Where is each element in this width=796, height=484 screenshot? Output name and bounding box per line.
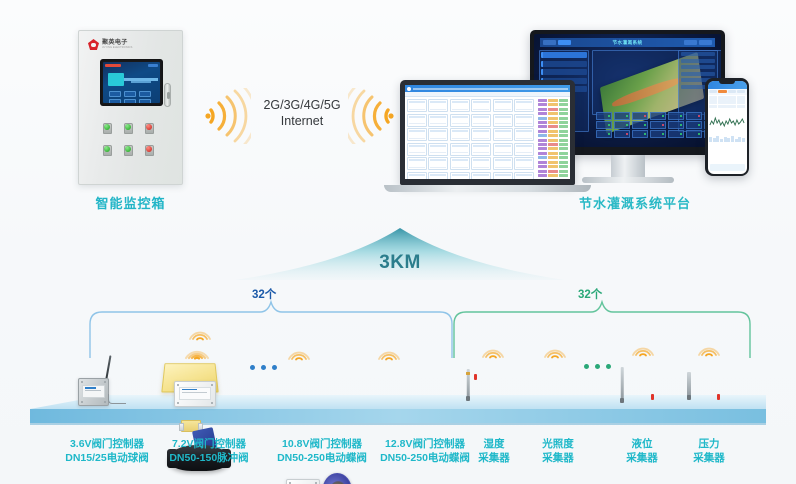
side-row [538, 121, 568, 124]
device-card[interactable] [514, 99, 534, 112]
table-cell [737, 100, 745, 104]
device-card[interactable] [514, 157, 534, 170]
monitor-stand [611, 155, 645, 179]
device-card[interactable] [493, 172, 513, 180]
device-card[interactable] [493, 157, 513, 170]
hmi-tank-graphic [108, 73, 124, 86]
device-card[interactable] [407, 143, 427, 156]
device-label-line1: 7.2V阀门控制器 [150, 437, 268, 451]
laptop-base [384, 185, 591, 192]
table-cell [737, 96, 745, 100]
wireless-signal-icon-sensor-4 [696, 341, 722, 357]
device-label-line2: 采集器 [614, 451, 670, 465]
pressure-connector [717, 394, 720, 400]
hmi-data-cell [109, 91, 121, 97]
device-label-line2: 采集器 [527, 451, 589, 465]
status-line [681, 72, 715, 76]
hmi-screen [103, 62, 160, 103]
device-label-line2: DN15/25电动球阀 [48, 451, 166, 465]
laptop [400, 80, 575, 185]
device-label-level: 液位 采集器 [614, 437, 670, 465]
wireless-signal-icon-sensor-3 [630, 341, 656, 357]
wireless-signal-icon-device-1 [182, 340, 212, 360]
device-card[interactable] [450, 172, 470, 180]
valve-controller-count: 32个 [252, 286, 276, 302]
table-cell [709, 105, 717, 109]
wireless-signal-icon-device-2 [187, 325, 213, 341]
phone-tab[interactable] [737, 90, 745, 94]
valve-cell[interactable] [596, 130, 612, 138]
indicator-lamp-6[interactable] [145, 145, 154, 156]
valve-cell[interactable] [596, 121, 612, 129]
laptop-content [405, 97, 570, 179]
network-type-label: 2G/3G/4G/5G Internet [247, 97, 357, 129]
table-cell [709, 100, 717, 104]
valve-cell[interactable] [632, 121, 648, 129]
device-card[interactable] [493, 143, 513, 156]
device-card[interactable] [428, 128, 448, 141]
valve-cell[interactable] [614, 112, 630, 120]
device-card[interactable] [471, 143, 491, 156]
brand-name-cn: 聚英电子 [102, 40, 132, 46]
phone-line-chart [709, 111, 745, 133]
device-label-valve-3-6v: 3.6V阀门控制器 DN15/25电动球阀 [48, 437, 166, 465]
device-card-grid [405, 97, 536, 179]
wireless-signal-icon-sensor-1 [480, 343, 506, 359]
device-card[interactable] [428, 99, 448, 112]
device-label-line1: 湿度 [466, 437, 522, 451]
phone-data-table [708, 95, 747, 110]
indicator-lamp-4[interactable] [103, 145, 112, 156]
status-line [681, 52, 715, 56]
device-label-line2: 采集器 [681, 451, 737, 465]
valve-controller-7-2v[interactable] [174, 381, 216, 407]
device-card[interactable] [450, 157, 470, 170]
hmi-data-cell [124, 91, 136, 97]
table-cell [718, 105, 726, 109]
coverage-distance-label: 3KM [360, 252, 440, 274]
device-label-line1: 光照度 [527, 437, 589, 451]
device-card[interactable] [514, 172, 534, 180]
device-label-illuminance: 光照度 采集器 [527, 437, 589, 465]
hmi-data-cell [109, 99, 121, 103]
hmi-status-bar [148, 64, 158, 67]
device-label-valve-7-2v: 7.2V阀门控制器 DN50-150脉冲阀 [150, 437, 268, 465]
indicator-lamp-1[interactable] [103, 123, 112, 134]
device-card[interactable] [450, 143, 470, 156]
valve-cell[interactable] [686, 121, 702, 129]
mobile-phone [705, 78, 749, 176]
app-header-line [413, 88, 568, 90]
device-card[interactable] [450, 114, 470, 127]
valve-cell[interactable] [614, 121, 630, 129]
monitor-dashboard-title: 节水灌溉系统 [613, 40, 643, 46]
side-row [538, 125, 568, 128]
phone-screen [708, 81, 747, 174]
side-row [538, 139, 568, 142]
tree-item[interactable] [541, 52, 587, 58]
device-card[interactable] [428, 143, 448, 156]
device-label-humidity: 湿度 采集器 [466, 437, 522, 465]
phone-body [705, 78, 749, 176]
device-card[interactable] [450, 99, 470, 112]
device-card[interactable] [514, 128, 534, 141]
table-cell [727, 96, 735, 100]
phone-bar-chart [709, 135, 745, 142]
device-label-pressure: 压力 采集器 [681, 437, 737, 465]
side-row [538, 165, 568, 168]
device-card[interactable] [493, 128, 513, 141]
side-row [538, 117, 568, 120]
humidity-probe [464, 369, 472, 399]
wireless-signal-icon-sensor-2 [542, 343, 568, 359]
hmi-pipe-graphic-2 [131, 81, 151, 83]
level-connector [651, 394, 654, 400]
laptop-lid [400, 80, 575, 185]
brand-mark-icon [88, 39, 99, 50]
table-cell [737, 105, 745, 109]
hmi-data-cell [124, 99, 136, 103]
device-card[interactable] [471, 128, 491, 141]
device-card[interactable] [428, 114, 448, 127]
valve-cell[interactable] [668, 121, 684, 129]
hmi-data-cell [139, 99, 151, 103]
monitor-topbar: 节水灌溉系统 [540, 38, 715, 47]
device-card[interactable] [407, 99, 427, 112]
app-logo-icon [407, 87, 411, 91]
side-row [538, 134, 568, 137]
phone-footer-bar [710, 164, 745, 171]
valve-controller-3-6v[interactable] [78, 378, 109, 406]
side-row [538, 103, 568, 106]
valve-cell[interactable] [596, 112, 612, 120]
probe-connector [474, 374, 477, 380]
device-label-line1: 压力 [681, 437, 737, 451]
device-card[interactable] [471, 99, 491, 112]
valve-cell[interactable] [686, 130, 702, 138]
platform-caption: 节水灌溉系统平台 [520, 193, 750, 212]
device-card[interactable] [407, 114, 427, 127]
device-card[interactable] [514, 114, 534, 127]
valve-cell[interactable] [650, 121, 666, 129]
valve-controller-10-8v[interactable] [286, 479, 320, 484]
device-label-line2: DN50-150脉冲阀 [150, 451, 268, 465]
ellipsis-left-group [250, 365, 277, 370]
valve-cell[interactable] [668, 130, 684, 138]
laptop-app-header [405, 85, 570, 92]
ground-platform [30, 395, 766, 431]
hmi-touch-panel[interactable] [100, 59, 163, 106]
data-collector-count: 32个 [578, 286, 602, 302]
side-row [538, 112, 568, 115]
valve-cell[interactable] [686, 112, 702, 120]
valve-cell[interactable] [632, 112, 648, 120]
device-card[interactable] [407, 172, 427, 180]
side-row [538, 108, 568, 111]
tree-item[interactable] [541, 69, 587, 75]
status-line [681, 65, 715, 69]
side-row [538, 161, 568, 164]
monitor-tab-active[interactable] [558, 40, 571, 45]
phone-notch [719, 81, 735, 85]
status-line [681, 59, 715, 63]
side-row [538, 156, 568, 159]
monitor-tab[interactable] [684, 40, 697, 45]
table-cell [727, 100, 735, 104]
hmi-alarm-bar [105, 64, 121, 67]
valve-cell[interactable] [650, 130, 666, 138]
hmi-data-cell [139, 91, 151, 97]
monitor-valve-grid [596, 112, 720, 138]
tree-item[interactable] [541, 61, 587, 67]
monitor-tab[interactable] [699, 40, 712, 45]
cabinet-caption: 智能监控箱 [78, 193, 183, 212]
monitor-tab[interactable] [543, 40, 556, 45]
cabinet-door-handle[interactable] [164, 83, 171, 107]
side-row [538, 147, 568, 150]
phone-tab-active[interactable] [718, 90, 726, 94]
table-cell [718, 100, 726, 104]
monitor-base [582, 177, 674, 183]
table-cell [709, 96, 717, 100]
laptop-screen [405, 85, 570, 179]
diagram-canvas: 聚英电子 JUYING ELECTRONICS [0, 0, 796, 484]
pressure-probe [684, 372, 693, 398]
device-label-line2: 采集器 [466, 451, 522, 465]
indicator-lamp-3[interactable] [145, 123, 154, 134]
device-card[interactable] [471, 114, 491, 127]
device-card[interactable] [407, 157, 427, 170]
side-row [538, 174, 568, 177]
phone-tab[interactable] [728, 90, 736, 94]
side-row [538, 130, 568, 133]
indicator-lamp-2[interactable] [124, 123, 133, 134]
device-card[interactable] [514, 143, 534, 156]
device-label-line1: 液位 [614, 437, 670, 451]
device-card[interactable] [471, 157, 491, 170]
controller-cable [108, 394, 126, 404]
device-card[interactable] [471, 172, 491, 180]
wireless-signal-icon-device-3 [286, 345, 312, 361]
side-row [538, 99, 568, 102]
electric-butterfly-valve-dn50-250-a[interactable] [318, 473, 356, 484]
device-card[interactable] [450, 128, 470, 141]
wireless-signal-icon-device-4 [376, 345, 402, 361]
valve-cell[interactable] [614, 130, 630, 138]
cabinet-brand-logo: 聚英电子 JUYING ELECTRONICS [88, 39, 132, 50]
laptop-side-list [536, 97, 570, 179]
smart-control-cabinet: 聚英电子 JUYING ELECTRONICS [78, 30, 183, 185]
table-cell [718, 96, 726, 100]
wireless-signal-icon-left [205, 88, 251, 144]
phone-tab[interactable] [709, 90, 717, 94]
valve-cell[interactable] [650, 112, 666, 120]
device-card[interactable] [493, 114, 513, 127]
valve-cell[interactable] [632, 130, 648, 138]
table-cell [727, 105, 735, 109]
network-standards: 2G/3G/4G/5G [247, 97, 357, 113]
ellipsis-right-group [584, 364, 611, 369]
side-row [538, 143, 568, 146]
indicator-lamp-5[interactable] [124, 145, 133, 156]
device-card[interactable] [428, 172, 448, 180]
device-label-line1: 3.6V阀门控制器 [48, 437, 166, 451]
level-probe [618, 367, 626, 401]
butterfly-disc [322, 473, 352, 484]
side-row [538, 152, 568, 155]
device-card[interactable] [428, 157, 448, 170]
device-card[interactable] [407, 128, 427, 141]
network-internet: Internet [247, 113, 357, 129]
device-card[interactable] [493, 99, 513, 112]
side-row [538, 170, 568, 173]
valve-cell[interactable] [668, 112, 684, 120]
brand-name-en: JUYING ELECTRONICS [102, 47, 132, 50]
